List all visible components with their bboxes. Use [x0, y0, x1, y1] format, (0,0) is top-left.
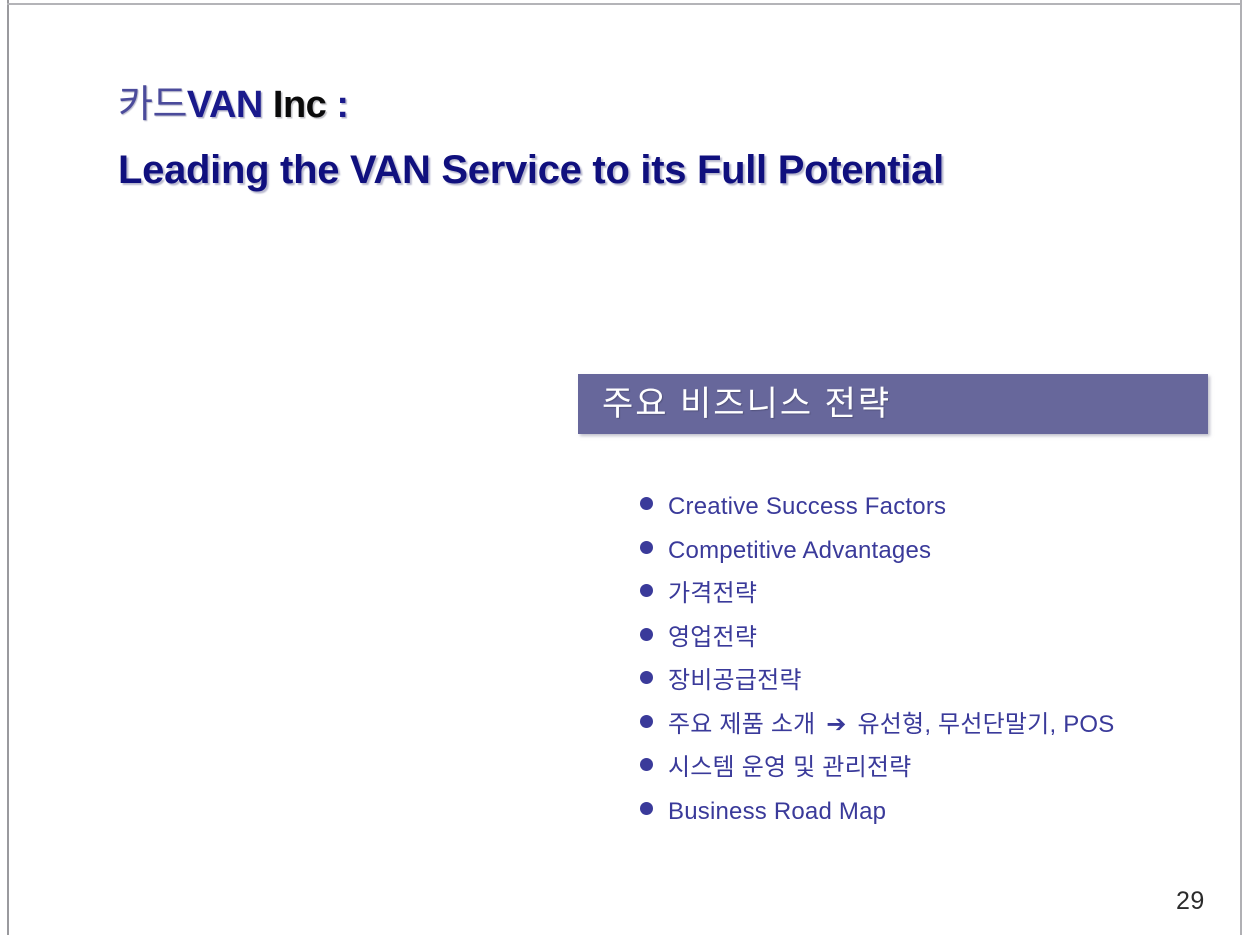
- bullet-dot-icon: [640, 758, 653, 771]
- bullet-dot-icon: [640, 628, 653, 641]
- list-item-label: Competitive Advantages: [668, 539, 931, 563]
- list-item-label-tail: 유선형, 무선단말기, POS: [851, 711, 1115, 738]
- list-item: 가격전략: [640, 582, 1200, 626]
- list-item-label: 시스템 운영 및 관리전략: [668, 756, 911, 780]
- list-item: Creative Success Factors: [640, 495, 1200, 539]
- title-colon: :: [326, 84, 348, 126]
- slide-frame-left-border: [7, 0, 9, 935]
- bullet-dot-icon: [640, 671, 653, 684]
- list-item: Business Road Map: [640, 800, 1200, 844]
- list-item-label: Creative Success Factors: [668, 495, 946, 519]
- strategy-bullet-list: Creative Success Factors Competitive Adv…: [640, 495, 1200, 843]
- company-name-inc: Inc: [263, 84, 326, 126]
- list-item-label: 주요 제품 소개 ➔ 유선형, 무선단말기, POS: [668, 713, 1114, 737]
- list-item-label: 영업전략: [668, 626, 757, 650]
- list-item-label: 장비공급전략: [668, 669, 802, 693]
- slide-title-block: 카드VAN Inc : Leading the VAN Service to i…: [118, 82, 1118, 194]
- bullet-dot-icon: [640, 715, 653, 728]
- list-item: Competitive Advantages: [640, 539, 1200, 583]
- list-item: 장비공급전략: [640, 669, 1200, 713]
- section-header-bar: 주요 비즈니스 전략: [578, 374, 1208, 434]
- company-name-van: VAN: [187, 84, 263, 126]
- section-header-label: 주요 비즈니스 전략: [578, 387, 891, 421]
- slide-tagline: Leading the VAN Service to its Full Pote…: [118, 146, 1118, 194]
- list-item: 영업전략: [640, 626, 1200, 670]
- page-number: 29: [1176, 887, 1205, 916]
- presentation-slide: 카드VAN Inc : Leading the VAN Service to i…: [0, 0, 1250, 935]
- list-item-label-lead: 주요 제품 소개: [668, 711, 822, 738]
- bullet-dot-icon: [640, 541, 653, 554]
- company-name-korean: 카드: [118, 84, 187, 126]
- slide-frame-right-border: [1240, 0, 1242, 935]
- right-arrow-icon: ➔: [822, 711, 850, 738]
- list-item: 시스템 운영 및 관리전략: [640, 756, 1200, 800]
- slide-frame-top-border: [7, 3, 1242, 5]
- bullet-dot-icon: [640, 802, 653, 815]
- list-item-label: 가격전략: [668, 582, 757, 606]
- bullet-dot-icon: [640, 497, 653, 510]
- bullet-dot-icon: [640, 584, 653, 597]
- company-title-line: 카드VAN Inc :: [118, 82, 1118, 128]
- list-item: 주요 제품 소개 ➔ 유선형, 무선단말기, POS: [640, 713, 1200, 757]
- list-item-label: Business Road Map: [668, 800, 886, 824]
